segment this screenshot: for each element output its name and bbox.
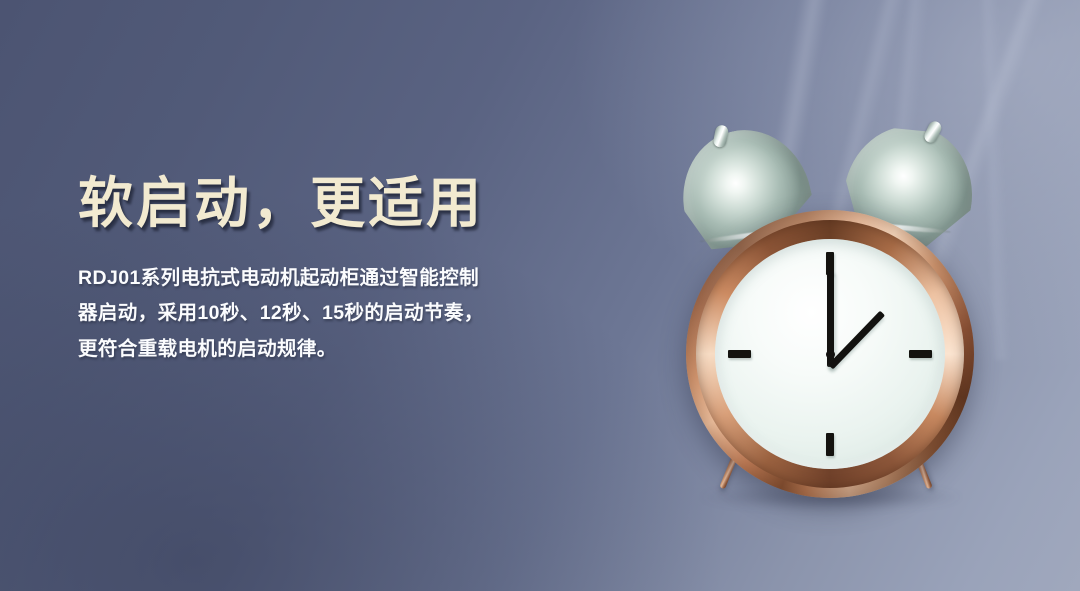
banner-text-block: 软启动，更适用 RDJ01系列电抗式电动机起动柜通过智能控制 器启动，采用10秒…: [78, 176, 598, 367]
description-line-3: 更符合重载电机的启动规律。: [78, 332, 598, 367]
description-line-1: RDJ01系列电抗式电动机起动柜通过智能控制: [78, 261, 598, 296]
description-line-2: 器启动，采用10秒、12秒、15秒的启动节奏，: [78, 296, 598, 331]
clock-dial: [715, 239, 945, 469]
hand-center-cap: [826, 350, 835, 359]
banner-description: RDJ01系列电抗式电动机起动柜通过智能控制 器启动，采用10秒、12秒、15秒…: [78, 231, 598, 367]
page-title: 软启动，更适用: [78, 176, 598, 231]
promo-banner: 软启动，更适用 RDJ01系列电抗式电动机起动柜通过智能控制 器启动，采用10秒…: [0, 0, 1080, 591]
hour-marker-3: [909, 350, 932, 358]
hour-marker-6: [826, 433, 834, 456]
alarm-clock-illustration: [660, 112, 1000, 492]
hour-hand: [827, 311, 884, 370]
hour-marker-9: [728, 350, 751, 358]
